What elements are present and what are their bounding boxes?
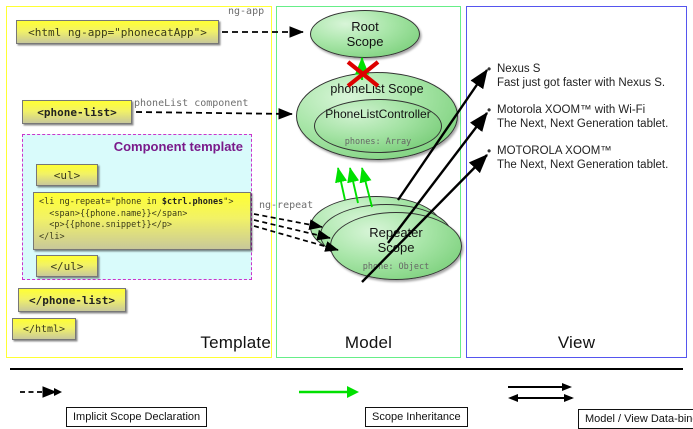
li-line1-pre: <li ng-repeat="phone in — [39, 197, 162, 207]
bullet-icon: • — [487, 144, 491, 158]
code-box-phone-list-open: <phone-list> — [22, 100, 132, 124]
phone-name: Nexus S — [497, 62, 683, 76]
li-line2: <span>{{phone.name}}</span> — [39, 209, 187, 219]
legend-item-scope-inheritance: Scope Inheritance — [297, 382, 363, 402]
legend-label-data-binding: Model / View Data-binding — [578, 409, 693, 429]
legend-item-implicit-scope: Implicit Scope Declaration — [18, 382, 64, 402]
edge-label-phonelist-component: phoneList component — [134, 98, 248, 109]
list-item: • Nexus S Fast just got faster with Nexu… — [487, 62, 683, 90]
view-phone-list: • Nexus S Fast just got faster with Nexu… — [487, 62, 683, 185]
bullet-icon: • — [487, 103, 491, 117]
phonelist-controller-label: PhoneListController — [315, 107, 441, 121]
root-scope-label-line2: Scope — [347, 34, 384, 49]
code-box-html-open: <html ng-app="phonecatApp"> — [16, 20, 219, 44]
phone-snippet: The Next, Next Generation tablet. — [497, 158, 683, 172]
li-line4: </li> — [39, 232, 65, 242]
repeater-scope-label: Repeater Scope — [331, 225, 461, 255]
legend-dashed-arrow-icon — [18, 382, 64, 402]
code-box-ul-open: <ul> — [36, 164, 98, 186]
phonelist-scope-ellipse: phoneList Scope PhoneListController phon… — [296, 72, 458, 160]
repeater-scope-label-line2: Scope — [378, 240, 415, 255]
code-box-ng-repeat-li: <li ng-repeat="phone in $ctrl.phones"> <… — [33, 192, 251, 250]
repeater-scope-ellipse-front: Repeater Scope phone: Object — [330, 212, 462, 280]
diagram-canvas: Template Model View Component template <… — [0, 0, 693, 417]
code-box-ul-close: </ul> — [36, 255, 98, 277]
phone-snippet: Fast just got faster with Nexus S. — [497, 76, 683, 90]
phone-name: MOTOROLA XOOM™ — [497, 144, 683, 158]
edge-label-ng-repeat: ng-repeat — [259, 200, 313, 211]
phonelist-controller-ellipse: PhoneListController phones: Array — [314, 99, 442, 153]
panel-model: Model — [276, 6, 461, 358]
repeater-scope-meta: phone: Object — [331, 262, 461, 272]
legend-item-data-binding: Model / View Data-binding — [506, 382, 576, 402]
li-line3: <p>{{phone.snippet}}</p> — [39, 220, 172, 230]
component-template-title: Component template — [114, 139, 243, 154]
root-scope-ellipse: Root Scope — [310, 10, 420, 58]
legend-divider — [10, 368, 683, 370]
phone-snippet: The Next, Next Generation tablet. — [497, 117, 683, 131]
code-box-html-close: </html> — [12, 318, 76, 340]
list-item: • MOTOROLA XOOM™ The Next, Next Generati… — [487, 144, 683, 172]
code-box-phone-list-close: </phone-list> — [18, 288, 126, 312]
root-scope-label-line1: Root — [347, 19, 384, 34]
edge-label-ng-app: ng-app — [228, 6, 264, 17]
bullet-icon: • — [487, 62, 491, 76]
panel-model-label: Model — [277, 333, 460, 353]
repeater-scope-label-line1: Repeater — [369, 225, 422, 240]
legend: Implicit Scope Declaration Scope Inherit… — [0, 366, 693, 417]
li-line1-post: "> — [223, 197, 233, 207]
panel-view-label: View — [467, 333, 686, 353]
legend-label-implicit-scope: Implicit Scope Declaration — [66, 407, 207, 427]
phone-name: Motorola XOOM™ with Wi-Fi — [497, 103, 683, 117]
phonelist-controller-meta: phones: Array — [315, 137, 441, 147]
legend-label-scope-inheritance: Scope Inheritance — [365, 407, 468, 427]
phonelist-scope-label: phoneList Scope — [297, 82, 457, 96]
list-item: • Motorola XOOM™ with Wi-Fi The Next, Ne… — [487, 103, 683, 131]
legend-green-arrow-icon — [297, 382, 363, 402]
legend-double-arrow-icon — [506, 382, 576, 404]
li-line1-bold: $ctrl.phones — [162, 197, 223, 207]
